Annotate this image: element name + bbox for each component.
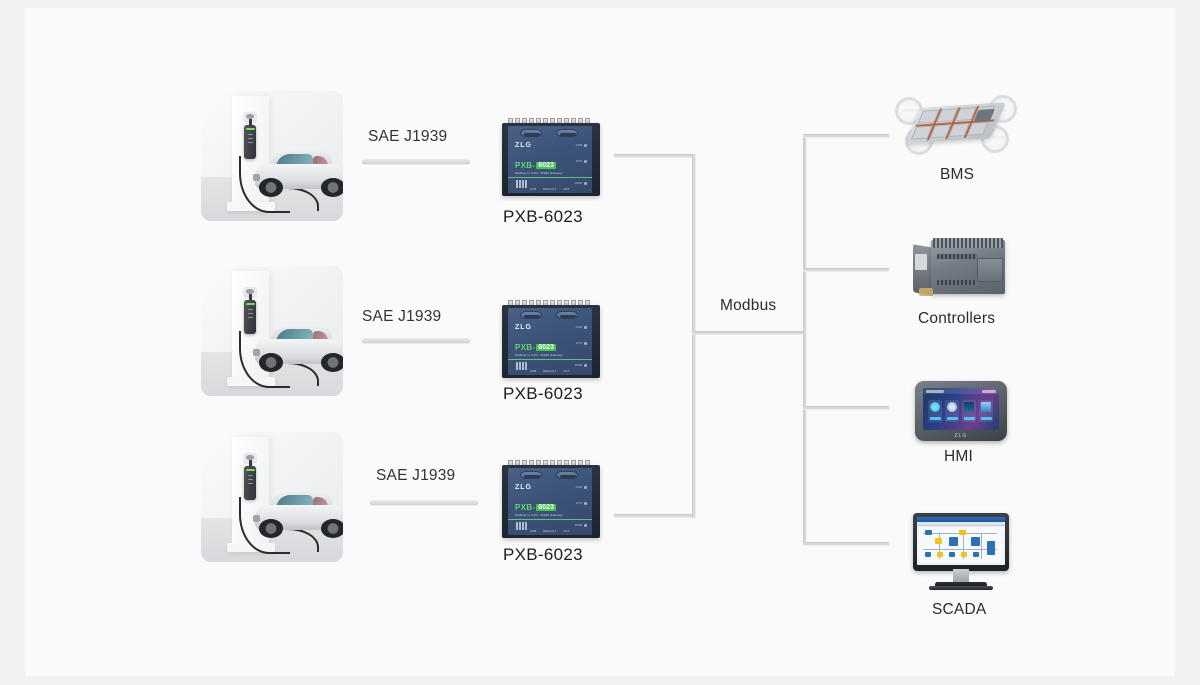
led-sys: SYS: [576, 159, 587, 163]
target-label-bms: BMS: [940, 166, 974, 184]
gauge-icon: [930, 402, 940, 412]
plc-access-panel: [977, 258, 1003, 282]
db9-port-rs485: [556, 471, 578, 479]
led-pwr: PWR: [575, 363, 587, 367]
hmi-tile: [979, 400, 993, 422]
ev-charger-image-1: [201, 91, 343, 221]
bottom-label: DEFAULT: [543, 529, 556, 533]
car-wheel: [321, 519, 343, 538]
scada-mimic-diagram: [919, 527, 1003, 563]
model-suffix: 6023: [536, 344, 556, 351]
car-wheel: [259, 353, 283, 372]
controllers-image: [913, 236, 1009, 302]
diagram-canvas: SAE J1939 SAE J1939 SAE J1939 ZLG PXB- 6…: [25, 8, 1175, 676]
bottom-label: RST: [563, 529, 569, 533]
faceplate-divider: [508, 177, 592, 178]
bottom-label: USB: [530, 369, 536, 373]
led-label: CAN: [576, 325, 582, 329]
target-label-scada: SCADA: [932, 601, 986, 619]
led-label: CAN: [576, 485, 582, 489]
db9-port-can: [520, 129, 542, 137]
target-label-hmi: HMI: [944, 448, 973, 466]
hmi-screen: [923, 388, 999, 430]
led-sys: SYS: [576, 341, 587, 345]
electric-car: [255, 323, 343, 375]
trend-chart-icon: [964, 402, 974, 412]
charger-led: [246, 469, 255, 471]
device-model: PXB- 6023: [515, 503, 556, 512]
device-subtitle: Modbus to CAN / J1939 Gateway: [515, 171, 562, 175]
bms-image: [893, 93, 1019, 155]
plc-terminal-strip: [937, 254, 977, 259]
plc-connector: [919, 288, 933, 296]
led-label: SYS: [576, 501, 582, 505]
device-shell: ZLG PXB- 6023 Modbus to CAN / J1939 Gate…: [502, 305, 600, 378]
led-pwr: PWR: [575, 181, 587, 185]
monitor-stand-base: [935, 582, 987, 589]
charger-button: [248, 475, 253, 477]
model-prefix: PXB-: [515, 503, 535, 512]
car-wheel: [321, 353, 343, 372]
bus-trunk-left: [692, 154, 696, 518]
device-model: PXB- 6023: [515, 343, 556, 352]
pie-chart-icon: [947, 402, 957, 412]
gateway-device-1[interactable]: ZLG PXB- 6023 Modbus to CAN / J1939 Gate…: [502, 116, 600, 198]
hmi-tile: [928, 400, 942, 422]
device-model: PXB- 6023: [515, 161, 556, 170]
model-prefix: PXB-: [515, 161, 535, 170]
hmi-image: ZLG: [915, 381, 1007, 441]
led-can: CAN: [576, 325, 587, 329]
model-suffix: 6023: [536, 162, 556, 169]
device-shell: ZLG PXB- 6023 Modbus to CAN / J1939 Gate…: [502, 465, 600, 538]
device-faceplate: ZLG PXB- 6023 Modbus to CAN / J1939 Gate…: [508, 468, 592, 535]
gateway-device-3[interactable]: ZLG PXB- 6023 Modbus to CAN / J1939 Gate…: [502, 458, 600, 540]
led-label: PWR: [575, 363, 582, 367]
db9-port-rs485: [556, 311, 578, 319]
protocol-label-1: SAE J1939: [368, 128, 447, 146]
charger-button: [248, 138, 253, 140]
led-label: PWR: [575, 523, 582, 527]
monitor-stand-neck: [953, 569, 969, 583]
gateway-label-2: PXB-6023: [503, 384, 583, 404]
protocol-label-3: SAE J1939: [376, 467, 455, 485]
gateway-label-3: PXB-6023: [503, 545, 583, 565]
faceplate-divider: [508, 519, 592, 520]
plc-door: [915, 254, 927, 270]
bottom-label: RST: [563, 369, 569, 373]
bottom-label: DEFAULT: [543, 187, 556, 191]
hmi-tile: [945, 400, 959, 422]
bus-branch-bms: [803, 134, 889, 138]
hmi-tile: [962, 400, 976, 422]
charger-led: [246, 128, 255, 130]
window-toolbar: [917, 522, 1005, 526]
charger-button: [248, 313, 253, 315]
bus-branch-gateway-3: [614, 514, 696, 518]
device-subtitle: Modbus to CAN / J1939 Gateway: [515, 513, 562, 517]
led-label: SYS: [576, 159, 582, 163]
device-subtitle: Modbus to CAN / J1939 Gateway: [515, 353, 562, 357]
device-brand: ZLG: [515, 324, 532, 331]
charger-button: [248, 317, 253, 319]
dip-switches: [516, 180, 527, 188]
link-charger-1-to-gateway: [362, 160, 470, 164]
bus-branch-scada: [803, 542, 889, 546]
car-wheel: [321, 178, 343, 197]
faceplate-divider: [508, 359, 592, 360]
charge-port: [253, 174, 260, 181]
plc-terminal-strip: [937, 280, 977, 285]
ev-charger-image-3: [201, 432, 343, 562]
gateway-device-2[interactable]: ZLG PXB- 6023 Modbus to CAN / J1939 Gate…: [502, 298, 600, 380]
link-charger-2-to-gateway: [362, 339, 470, 343]
bus-branch-hmi: [803, 406, 889, 410]
led-can: CAN: [576, 485, 587, 489]
charger-button: [248, 309, 253, 311]
db9-port-can: [520, 471, 542, 479]
bottom-port-labels: USB DEFAULT RST: [530, 529, 569, 533]
link-charger-3-to-gateway: [370, 501, 478, 505]
device-brand: ZLG: [515, 142, 532, 149]
target-label-controllers: Controllers: [918, 310, 995, 328]
charge-port: [253, 349, 260, 356]
scada-image: [913, 513, 1009, 595]
electric-car: [255, 148, 343, 200]
db9-port-can: [520, 311, 542, 319]
led-pwr: PWR: [575, 523, 587, 527]
protocol-label-2: SAE J1939: [362, 308, 441, 326]
plc-vents: [933, 238, 1003, 248]
hmi-status-bar: [923, 388, 999, 394]
model-suffix: 6023: [536, 504, 556, 511]
device-faceplate: ZLG PXB- 6023 Modbus to CAN / J1939 Gate…: [508, 126, 592, 193]
charger-button: [248, 483, 253, 485]
bus-branch-gateway-1: [614, 154, 696, 158]
bottom-label: RST: [563, 187, 569, 191]
bottom-port-labels: USB DEFAULT RST: [530, 369, 569, 373]
gateway-label-1: PXB-6023: [503, 207, 583, 227]
bottom-label: USB: [530, 187, 536, 191]
charger-led: [246, 303, 255, 305]
dip-switches: [516, 362, 527, 370]
car-wheel: [259, 178, 283, 197]
device-brand: ZLG: [515, 484, 532, 491]
bus-link-modbus: [692, 331, 807, 335]
bar-chart-icon: [981, 402, 991, 412]
model-prefix: PXB-: [515, 343, 535, 352]
bottom-port-labels: USB DEFAULT RST: [530, 187, 569, 191]
ev-charger-image-2: [201, 266, 343, 396]
led-label: SYS: [576, 341, 582, 345]
charger-button: [248, 142, 253, 144]
diagram-page: SAE J1939 SAE J1939 SAE J1939 ZLG PXB- 6…: [0, 0, 1200, 685]
charge-port: [253, 515, 260, 522]
dip-switches: [516, 522, 527, 530]
db9-port-rs485: [556, 129, 578, 137]
device-shell: ZLG PXB- 6023 Modbus to CAN / J1939 Gate…: [502, 123, 600, 196]
car-wheel: [259, 519, 283, 538]
led-sys: SYS: [576, 501, 587, 505]
led-can: CAN: [576, 143, 587, 147]
bottom-label: DEFAULT: [543, 369, 556, 373]
led-label: CAN: [576, 143, 582, 147]
monitor-display: [917, 517, 1005, 565]
monitor-frame: [913, 513, 1009, 571]
bus-label-modbus: Modbus: [720, 297, 776, 315]
charger-button: [248, 479, 253, 481]
led-label: PWR: [575, 181, 582, 185]
bus-branch-controllers: [803, 268, 889, 272]
bottom-label: USB: [530, 529, 536, 533]
device-faceplate: ZLG PXB- 6023 Modbus to CAN / J1939 Gate…: [508, 308, 592, 375]
bus-trunk-right: [803, 134, 807, 546]
charger-button: [248, 134, 253, 136]
hmi-brand: ZLG: [955, 433, 968, 439]
electric-car: [255, 489, 343, 541]
